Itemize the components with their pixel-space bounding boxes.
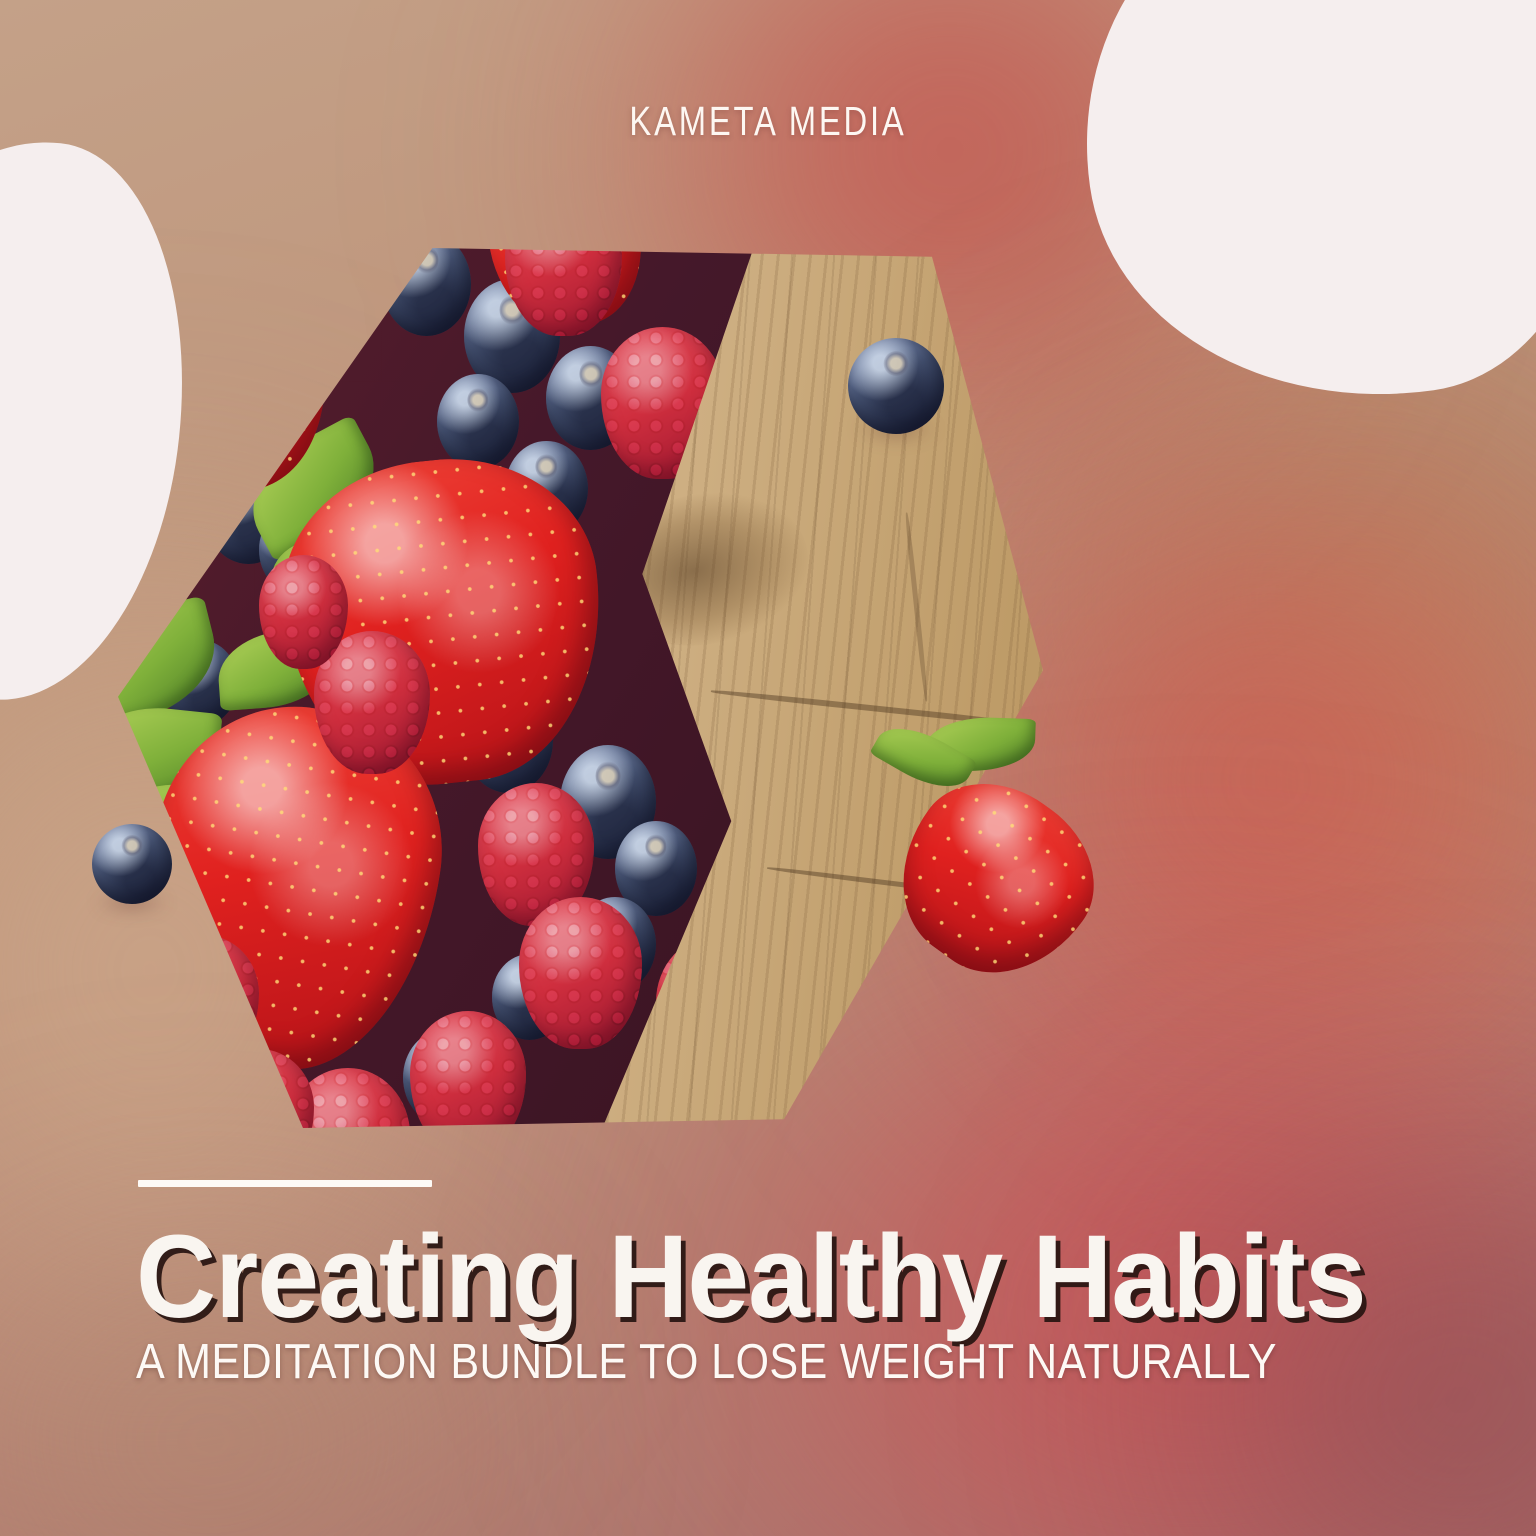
cover-artwork: KAMETA MEDIA bbox=[0, 0, 1536, 1536]
title-divider-rule bbox=[138, 1180, 432, 1187]
page-title: Creating Healthy Habits bbox=[136, 1218, 1349, 1336]
raspberry bbox=[519, 897, 642, 1049]
page-subtitle: A MEDITATION BUNDLE TO LOSE WEIGHT NATUR… bbox=[136, 1334, 1277, 1390]
raspberry bbox=[410, 1011, 526, 1128]
blueberry bbox=[437, 374, 519, 469]
brand-name: KAMETA MEDIA bbox=[154, 98, 1383, 145]
floating-blueberry-top bbox=[848, 338, 944, 434]
floating-blueberry-left bbox=[92, 824, 172, 904]
raspberry bbox=[259, 555, 348, 669]
